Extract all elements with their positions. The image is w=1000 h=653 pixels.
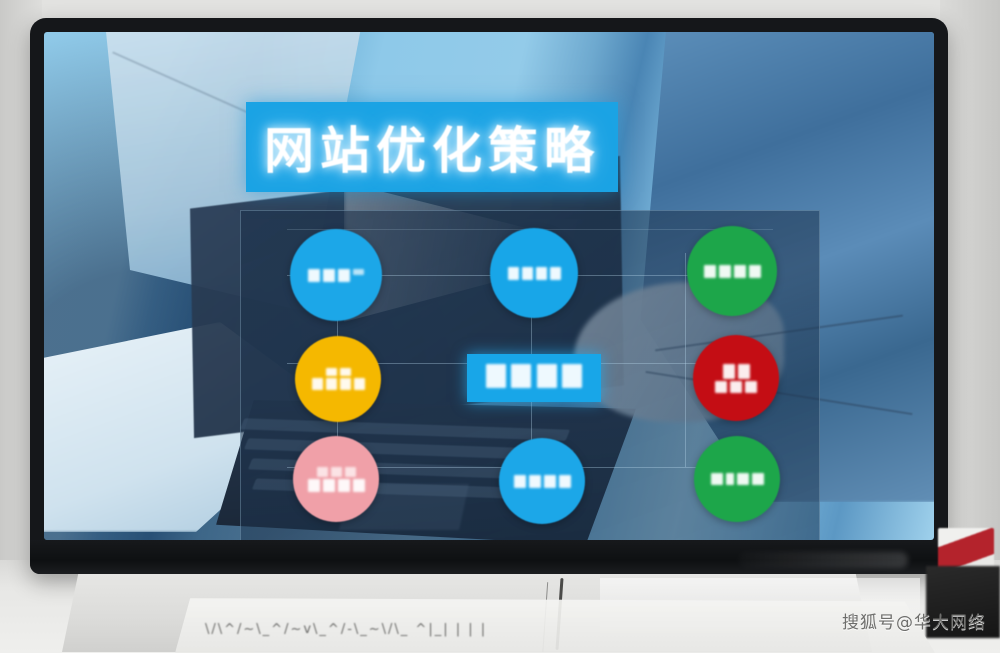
- node-label-line-2: [715, 381, 757, 393]
- paper-scribble: \/\^/~\_^/~v\_^/-\_~\/\_ ^|_| | | |: [205, 622, 487, 637]
- node-top-left[interactable]: [290, 229, 382, 321]
- center-node[interactable]: [467, 354, 601, 402]
- node-label: [508, 267, 561, 280]
- node-label-line-1: [723, 364, 750, 379]
- screenshot-root: 网站优化策略: [0, 0, 1000, 653]
- monitor-chin: [30, 540, 948, 574]
- center-node-label: [486, 364, 581, 392]
- node-bottom-right[interactable]: [694, 436, 780, 522]
- node-label: [711, 473, 764, 485]
- node-bottom-center[interactable]: [499, 438, 585, 524]
- slide-title-bar: 网站优化策略: [246, 102, 618, 192]
- node-label-line-1: [317, 467, 356, 477]
- connector-line: [685, 253, 686, 467]
- node-label: [514, 475, 571, 488]
- node-label-line-2: [312, 378, 365, 390]
- node-label-line-2: [308, 479, 365, 492]
- node-bottom-left[interactable]: [293, 436, 379, 522]
- wall-right: [940, 0, 1000, 560]
- node-label: [704, 265, 761, 278]
- monitor-screen: 网站优化策略: [44, 32, 934, 540]
- node-top-right[interactable]: [687, 226, 777, 316]
- node-mid-left[interactable]: [295, 336, 381, 422]
- node-label-line-1: [326, 368, 351, 376]
- monitor: 网站优化策略: [30, 18, 948, 574]
- node-mid-right[interactable]: [693, 335, 779, 421]
- watermark: 搜狐号@华大网络: [842, 608, 986, 633]
- chin-highlight: [738, 552, 908, 568]
- node-top-center[interactable]: [490, 228, 578, 318]
- slide-title: 网站优化策略: [264, 111, 600, 183]
- node-label: [308, 269, 364, 282]
